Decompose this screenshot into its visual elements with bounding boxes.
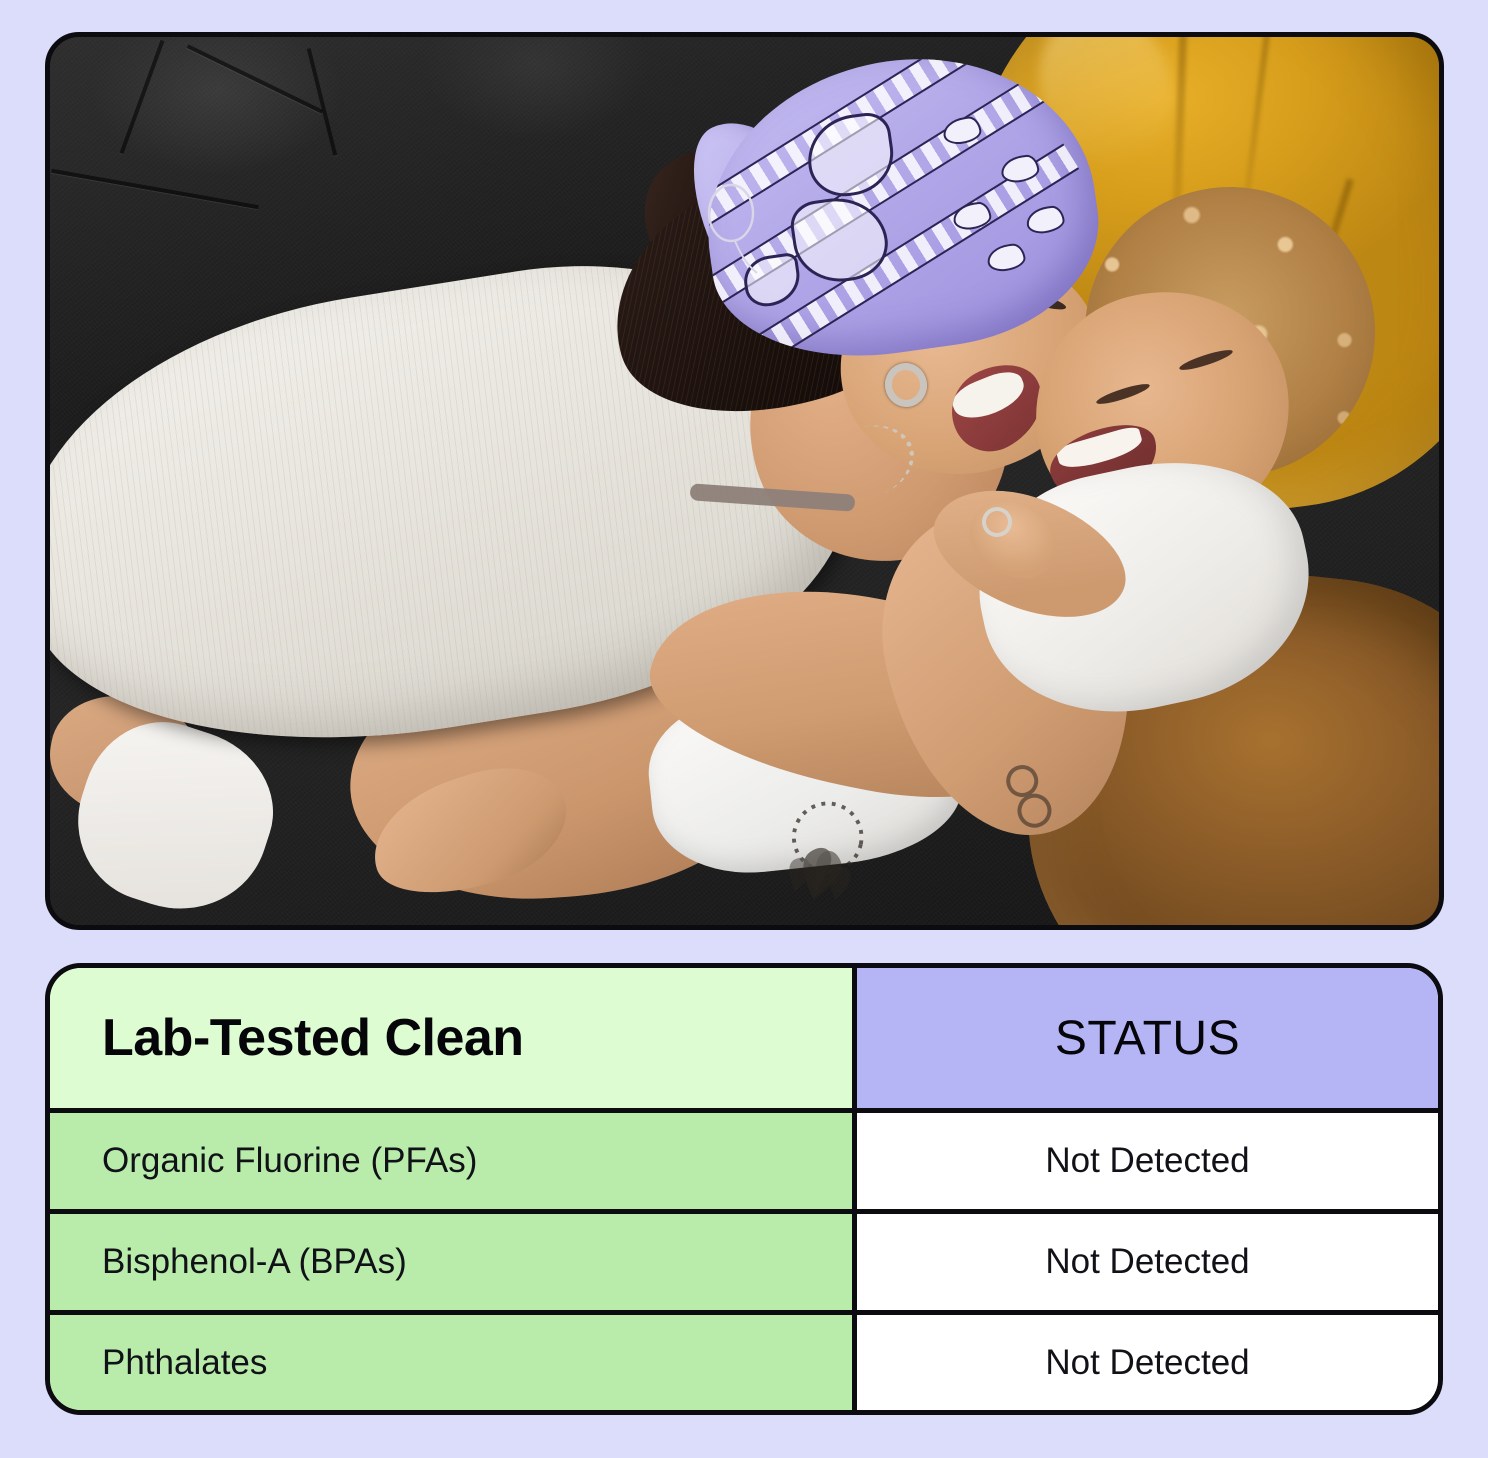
table-cell-substance: Bisphenol-A (BPAs) <box>50 1214 857 1310</box>
table-cell-substance: Phthalates <box>50 1315 857 1411</box>
hair-strand-icon <box>695 167 785 277</box>
table-cell-status: Not Detected <box>857 1113 1438 1209</box>
table-row: Bisphenol-A (BPAs) Not Detected <box>50 1209 1438 1310</box>
status-badge: Not Detected <box>1045 1141 1249 1181</box>
lifestyle-photo <box>50 37 1439 925</box>
status-badge: Not Detected <box>1045 1242 1249 1282</box>
table-header-title-cell: Lab-Tested Clean <box>50 968 857 1108</box>
lotus-tattoo <box>743 772 907 925</box>
substance-label: Phthalates <box>102 1343 267 1383</box>
lab-results-table: Lab-Tested Clean STATUS Organic Fluorine… <box>45 963 1443 1415</box>
table-cell-status: Not Detected <box>857 1315 1438 1411</box>
page-title: Lab-Tested Clean <box>102 1008 524 1068</box>
table-row: Phthalates Not Detected <box>50 1310 1438 1411</box>
table-cell-status: Not Detected <box>857 1214 1438 1310</box>
table-row: Organic Fluorine (PFAs) Not Detected <box>50 1108 1438 1209</box>
table-header-row: Lab-Tested Clean STATUS <box>50 968 1438 1108</box>
table-cell-substance: Organic Fluorine (PFAs) <box>50 1113 857 1209</box>
status-badge: Not Detected <box>1045 1343 1249 1383</box>
table-header-status-cell: STATUS <box>857 968 1438 1108</box>
hero-photo-card <box>45 32 1444 930</box>
substance-label: Organic Fluorine (PFAs) <box>102 1141 477 1181</box>
substance-label: Bisphenol-A (BPAs) <box>102 1242 407 1282</box>
status-column-header: STATUS <box>1055 1011 1240 1066</box>
